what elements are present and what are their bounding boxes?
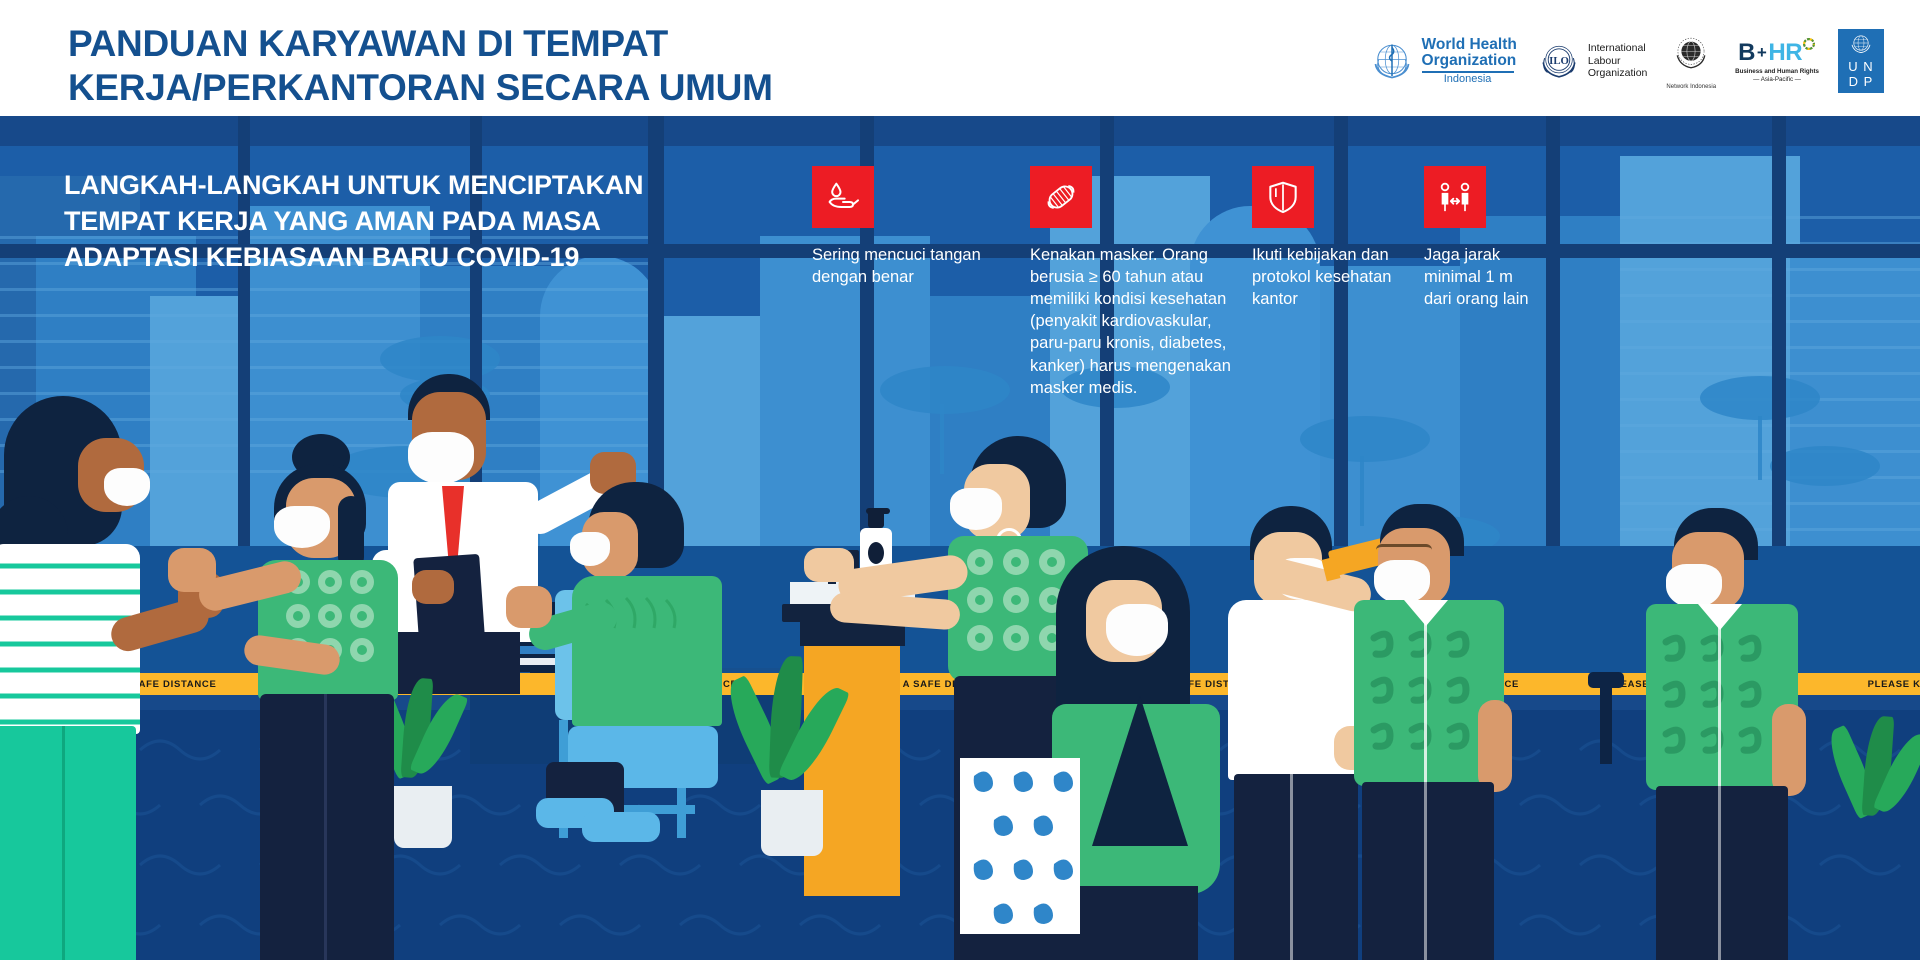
shirt-placket [1718,608,1721,788]
hair-tail [338,496,364,570]
hand [168,548,216,592]
trouser-seam [62,726,65,960]
page-title: PANDUAN KARYAWAN DI TEMPAT KERJA/PERKANT… [68,22,968,109]
soap-label [868,542,884,564]
ilo-line1: International [1588,42,1648,55]
face-mask [274,506,330,548]
person-woman-hijab [1030,546,1260,960]
who-line1: World Health [1422,37,1517,53]
person-man-batik-1 [1348,504,1538,960]
un-global-compact-sub: Network Indonesia [1666,84,1716,90]
scene-headline: LANGKAH-LANGKAH UNTUK MENCIPTAKAN TEMPAT… [64,168,764,276]
trousers [260,694,394,960]
trouser-seam [1718,786,1721,960]
person-woman-bun [252,434,452,960]
shirt-placket [1424,604,1427,784]
bag-pattern [960,758,1080,934]
bhr-hr: HR [1768,39,1802,67]
trouser-seam [324,694,327,960]
potted-plant [1835,716,1920,896]
undp-logo: U ND P [1838,29,1884,94]
tip-mask-text: Kenakan masker. Orang berusia ≥ 60 tahun… [1030,244,1235,399]
shopping-bag [960,758,1080,934]
bhr-plus: + [1755,39,1768,63]
hand-open [506,586,552,628]
tip-distancing: Jaga jarak minimal 1 m dari orang lain [1424,166,1544,310]
bhr-sub2: — Asia-Pacific — [1753,76,1801,83]
undp-letters: U ND P [1838,57,1884,94]
tip-distancing-text: Jaga jarak minimal 1 m dari orang lain [1424,244,1544,310]
headline-line3: ADAPTASI KEBIASAAN BARU COVID-19 [64,240,764,276]
ilo-emblem-icon: ILO [1536,38,1582,84]
who-country: Indonesia [1422,74,1514,86]
headline-line1: LANGKAH-LANGKAH UNTUK MENCIPTAKAN [64,168,764,204]
arm [1772,704,1806,796]
tip-policy: Ikuti kebijakan dan protokol kesehatan k… [1252,166,1402,310]
tip-handwash: Sering mencuci tangan dengan benar [812,166,997,288]
globe-emblem-icon [1669,32,1713,76]
person-woman-striped [0,396,212,960]
tip-handwash-text: Sering mencuci tangan dengan benar [812,244,997,288]
tape-stand-head [1588,672,1624,688]
person-man-batik-2 [1640,508,1830,960]
sdg-wheel-icon [1802,37,1816,51]
who-logo: World Health Organization Indonesia [1368,37,1517,86]
tip-mask: Kenakan masker. Orang berusia ≥ 60 tahun… [1030,166,1235,399]
un-global-compact-logo: Network Indonesia [1666,32,1716,90]
eyeglasses [1376,544,1432,556]
potted-plant [735,656,855,886]
page-title-line2: KERJA/PERKANTORAN SECARA UMUM [68,66,968,110]
face-mask [1374,560,1430,604]
ilo-line2: Labour [1588,55,1648,68]
tip-policy-text: Ikuti kebijakan dan protokol kesehatan k… [1252,244,1402,310]
un-emblem-icon [1838,29,1884,57]
tape-stand-pole [1600,684,1612,764]
bhr-sub1: Business and Human Rights [1735,68,1819,75]
bhr-logo: B + HR Business and Human Rights — Asia-… [1735,39,1819,83]
ilo-logo: ILO International Labour Organization [1536,38,1648,84]
shoe [582,812,660,842]
person-man-seated [520,482,750,862]
trousers [1656,786,1788,960]
handwash-icon [812,166,874,228]
ilo-logo-text: International Labour Organization [1588,42,1648,80]
face-mask [570,532,610,566]
logo-strip: World Health Organization Indonesia ILO [1368,28,1884,94]
arm [1478,700,1512,792]
soap-pump-head [866,508,890,514]
illustration-scene: PLEASE KEEP A SAFE DISTANCE PLEASE KEEP … [0,116,1920,960]
who-emblem-icon [1368,37,1416,85]
who-line2: Organization [1422,53,1517,69]
hand [804,548,854,582]
trousers [0,726,136,960]
page-title-line1: PANDUAN KARYAWAN DI TEMPAT [68,22,968,66]
skirt [1078,886,1198,960]
shield-icon [1252,166,1314,228]
trouser-seam [1290,774,1293,960]
ilo-line3: Organization [1588,67,1648,80]
trouser-seam [1424,782,1427,960]
face-mask [1666,564,1722,608]
infographic-root: PANDUAN KARYAWAN DI TEMPAT KERJA/PERKANT… [0,0,1920,960]
headline-line2: TEMPAT KERJA YANG AMAN PADA MASA [64,204,764,240]
face-mask-icon [1030,166,1092,228]
bhr-b: B [1738,39,1755,67]
who-logo-text: World Health Organization Indonesia [1422,37,1517,86]
face-mask [1106,604,1168,656]
trousers [1362,782,1494,960]
face-mask [104,468,150,506]
batik-pattern [1652,626,1792,784]
svg-text:ILO: ILO [1549,55,1569,67]
physical-distancing-icon [1424,166,1486,228]
face-mask [950,488,1002,530]
tape-text: PLEASE KEEP A SAFE DISTANCE [1824,679,1920,690]
header-bar: PANDUAN KARYAWAN DI TEMPAT KERJA/PERKANT… [0,0,1920,116]
